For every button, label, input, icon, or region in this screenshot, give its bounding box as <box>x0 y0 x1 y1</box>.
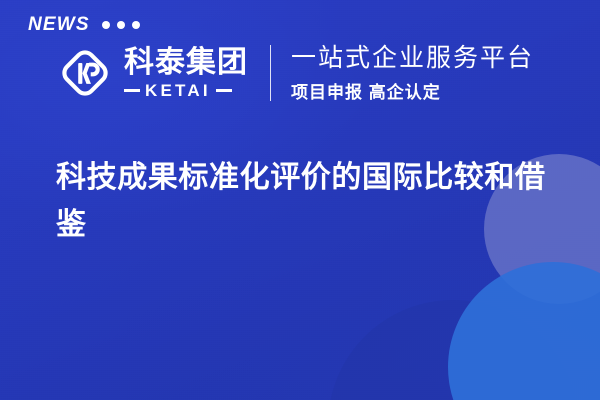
article-headline: 科技成果标准化评价的国际比较和借鉴 <box>56 155 561 248</box>
tagline-group: 一站式企业服务平台 项目申报 高企认定 <box>291 44 534 103</box>
tagline-main: 一站式企业服务平台 <box>291 44 534 73</box>
brand-row: 科泰集团 KETAI 一站式企业服务平台 项目申报 高企认定 <box>56 44 534 103</box>
news-banner: NEWS 科泰集团 KETAI <box>0 0 600 400</box>
brand-name-en: KETAI <box>145 82 211 99</box>
three-dots-icon <box>102 21 140 29</box>
brand-name-en-row: KETAI <box>124 82 248 99</box>
brand-logo-group: 科泰集团 KETAI <box>56 44 248 102</box>
eyebrow-row: NEWS <box>28 14 140 36</box>
ketai-diamond-kt-monogram-icon <box>56 44 114 102</box>
brand-name-cn: 科泰集团 <box>124 47 248 79</box>
dash-right-icon <box>216 89 232 92</box>
vertical-divider-icon <box>270 45 271 101</box>
brand-wordmark: 科泰集团 KETAI <box>124 47 248 99</box>
dash-left-icon <box>124 89 140 92</box>
tagline-sub: 项目申报 高企认定 <box>291 78 534 103</box>
news-label: NEWS <box>28 14 90 36</box>
